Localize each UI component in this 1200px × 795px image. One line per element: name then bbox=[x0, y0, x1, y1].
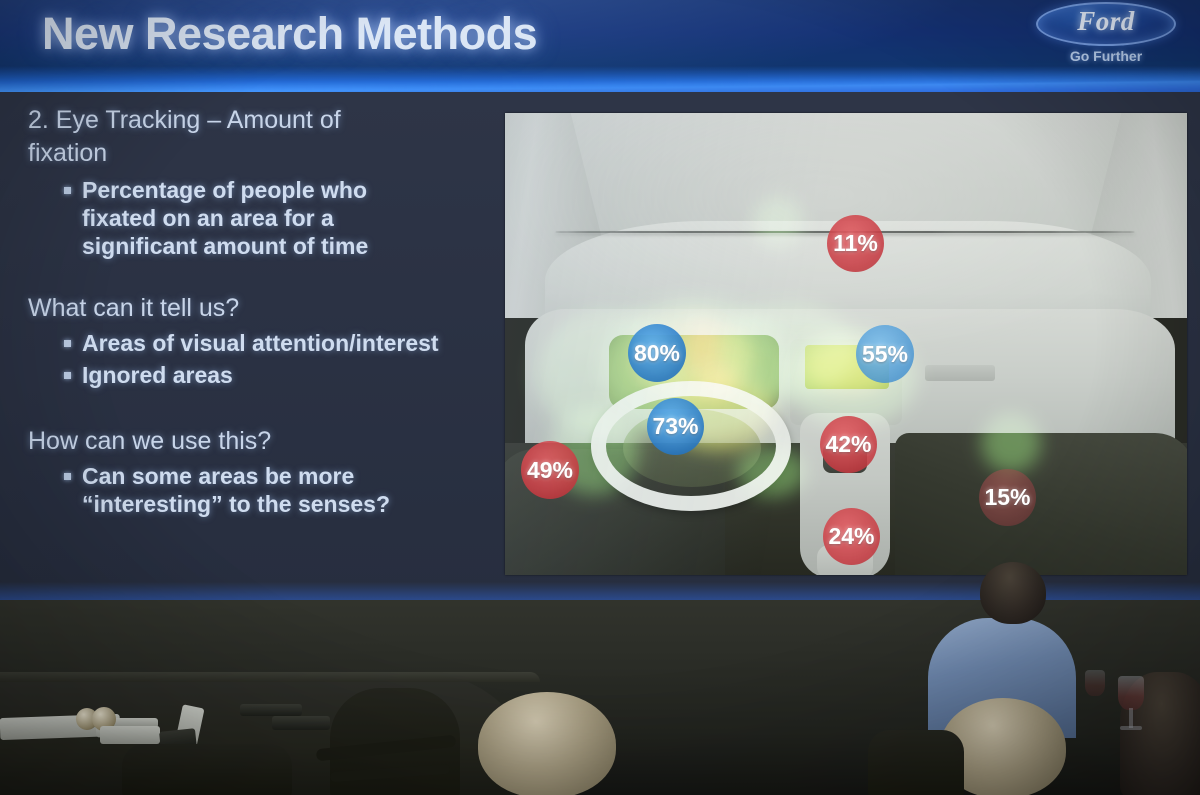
list-item: Can some areas be more “interesting” to … bbox=[64, 462, 528, 518]
spacer bbox=[28, 260, 528, 296]
bullet-line: Ignored areas bbox=[82, 361, 233, 389]
slide-heading-line-2: fixation bbox=[28, 141, 528, 166]
wine-glass bbox=[1085, 670, 1105, 696]
audience-person-head bbox=[478, 692, 616, 795]
bullet-group-answers-1: Areas of visual attention/interest Ignor… bbox=[28, 329, 528, 389]
bullet-line: “interesting” to the senses? bbox=[82, 491, 390, 517]
fixation-percentage-badge: 73% bbox=[647, 398, 704, 455]
slide-bullet-list: 2. Eye Tracking – Amount of fixation Per… bbox=[28, 108, 528, 518]
heatmap-blob bbox=[753, 197, 803, 247]
square-bullet-icon bbox=[64, 340, 71, 347]
fixation-percentage-label: 15% bbox=[984, 484, 1030, 511]
conference-table-edge bbox=[0, 672, 540, 682]
eye-tracking-heatmap-image bbox=[505, 113, 1187, 575]
bullet-line: significant amount of time bbox=[82, 233, 368, 259]
wine-glass-base bbox=[1120, 726, 1142, 730]
bullet-group-answers-2: Can some areas be more “interesting” to … bbox=[28, 462, 528, 518]
car-air-vent bbox=[925, 365, 995, 381]
bullet-line: fixated on an area for a bbox=[82, 205, 334, 231]
fixation-percentage-label: 49% bbox=[527, 457, 573, 484]
fixation-percentage-label: 24% bbox=[828, 523, 874, 550]
audience-person-head bbox=[980, 562, 1046, 624]
fixation-percentage-label: 55% bbox=[862, 341, 908, 368]
fixation-percentage-badge: 49% bbox=[521, 441, 579, 499]
fixation-percentage-label: 42% bbox=[825, 431, 871, 458]
list-item: Ignored areas bbox=[64, 361, 528, 389]
table-object-papers bbox=[100, 726, 160, 744]
heatmap-blob bbox=[981, 413, 1041, 473]
wine-glass-stem bbox=[1129, 708, 1133, 728]
table-object-dark bbox=[272, 716, 330, 730]
chair bbox=[122, 744, 292, 795]
fixation-percentage-badge: 24% bbox=[823, 508, 880, 565]
bullet-group-definition: Percentage of people who fixated on an a… bbox=[28, 176, 528, 260]
list-item: Areas of visual attention/interest bbox=[64, 329, 528, 357]
projected-slide: New Research Methods Ford Go Further 2. … bbox=[0, 0, 1200, 600]
spacer bbox=[28, 389, 528, 429]
heatmap-blob bbox=[737, 447, 807, 497]
fixation-percentage-label: 80% bbox=[634, 340, 680, 367]
question-2: How can we use this? bbox=[28, 429, 528, 454]
fixation-percentage-badge: 80% bbox=[628, 324, 686, 382]
page-title: New Research Methods bbox=[42, 8, 537, 60]
fixation-percentage-badge: 55% bbox=[856, 325, 914, 383]
car-seat-right bbox=[895, 433, 1187, 575]
table-object-dark bbox=[240, 704, 302, 716]
fixation-percentage-label: 73% bbox=[652, 413, 698, 440]
square-bullet-icon bbox=[64, 187, 71, 194]
wine-glass bbox=[1118, 676, 1144, 710]
fixation-percentage-label: 11% bbox=[833, 230, 878, 257]
fixation-percentage-badge: 42% bbox=[820, 416, 877, 473]
question-1: What can it tell us? bbox=[28, 296, 528, 321]
ford-logo-block: Ford Go Further bbox=[1032, 0, 1182, 72]
ford-wordmark: Ford bbox=[1032, 6, 1180, 37]
fixation-percentage-badge: 15% bbox=[979, 469, 1036, 526]
ford-tagline: Go Further bbox=[1032, 48, 1180, 64]
slide-heading-line-1: 2. Eye Tracking – Amount of bbox=[28, 108, 528, 133]
square-bullet-icon bbox=[64, 372, 71, 379]
chair bbox=[868, 730, 964, 795]
screenshot-stage: New Research Methods Ford Go Further 2. … bbox=[0, 0, 1200, 795]
slide-content-area: 2. Eye Tracking – Amount of fixation Per… bbox=[0, 92, 1200, 600]
bullet-line: Percentage of people who bbox=[82, 177, 367, 203]
square-bullet-icon bbox=[64, 473, 71, 480]
list-item: Percentage of people who fixated on an a… bbox=[64, 176, 528, 260]
bullet-line: Areas of visual attention/interest bbox=[82, 329, 439, 357]
bullet-line: Can some areas be more bbox=[82, 463, 354, 489]
fixation-percentage-badge: 11% bbox=[827, 215, 884, 272]
